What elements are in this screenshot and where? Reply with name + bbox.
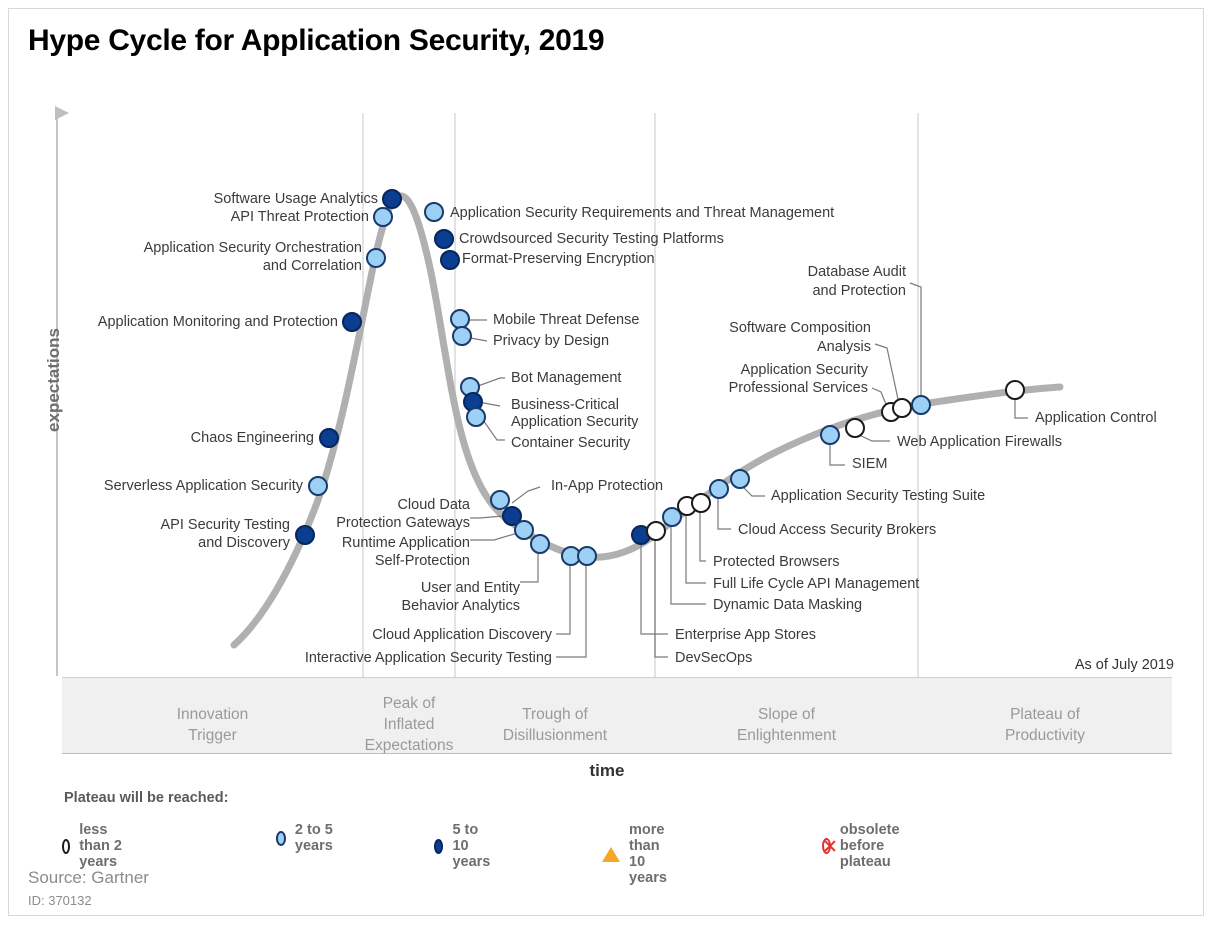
- phase-label: Trough ofDisillusionment: [503, 704, 607, 746]
- legend-heading: Plateau will be reached:: [64, 790, 228, 806]
- legend-label: 2 to 5 years: [295, 822, 338, 854]
- legend-marker-obsolete-icon: [822, 838, 831, 854]
- point-chaos-engineering: [320, 429, 338, 447]
- label-devsecops: DevSecOps: [675, 650, 752, 667]
- legend-item-more-than-10-years: more than 10 years: [602, 822, 667, 886]
- label-application-security-testing-suite: Application Security Testing Suite: [771, 488, 985, 505]
- legend-label: 5 to 10 years: [452, 822, 495, 870]
- point-application-security-requirements-and-threat-management: [425, 203, 443, 221]
- phase-label: InnovationTrigger: [177, 704, 249, 746]
- label-serverless-application-security: Serverless Application Security: [0, 478, 303, 495]
- point-format-preserving-encryption: [441, 251, 459, 269]
- label-application-security-orchestration-cont: and Correlation: [0, 258, 362, 275]
- label-full-life-cycle-api-management: Full Life Cycle API Management: [713, 576, 919, 593]
- legend-label: obsolete before plateau: [840, 822, 907, 870]
- label-user-and-entity-behavior-analytics: User and Entity: [330, 580, 520, 597]
- point-application-control: [1006, 381, 1024, 399]
- legend-item-obsolete-before-plateau: obsolete before plateau: [822, 822, 907, 870]
- point-api-threat-protection: [374, 208, 392, 226]
- legend-marker-circle-icon: [62, 839, 70, 854]
- label-siem: SIEM: [852, 456, 887, 473]
- point-application-security-testing-suite: [731, 470, 749, 488]
- phase-label: Slope ofEnlightenment: [737, 704, 836, 746]
- point-user-and-entity-behavior-analytics: [531, 535, 549, 553]
- legend-marker-circle-icon: [434, 839, 443, 854]
- label-database-audit-and-protection-cont: and Protection: [680, 283, 906, 300]
- legend-item-5-to-10-years: 5 to 10 years: [434, 822, 496, 870]
- legend-item-less-than-2-years: less than 2 years: [62, 822, 124, 870]
- label-crowdsourced-security-testing-platforms: Crowdsourced Security Testing Platforms: [459, 231, 724, 248]
- label-cloud-access-security-brokers: Cloud Access Security Brokers: [738, 522, 936, 539]
- label-runtime-application-self-protection-cont: Self-Protection: [280, 553, 470, 570]
- point-software-composition-analysis: [893, 399, 911, 417]
- label-protected-browsers: Protected Browsers: [713, 554, 840, 571]
- label-cloud-application-discovery: Cloud Application Discovery: [280, 627, 552, 644]
- point-application-monitoring-and-protection: [343, 313, 361, 331]
- label-database-audit-and-protection: Database Audit: [680, 264, 906, 281]
- hype-cycle-page: Hype Cycle for Application Security, 201…: [0, 0, 1214, 926]
- point-protected-browsers: [692, 494, 710, 512]
- label-cloud-data-protection-gateways: Cloud Data: [280, 497, 470, 514]
- label-business-critical-application-security: Business-Critical: [511, 397, 619, 414]
- label-software-usage-analytics: Software Usage Analytics: [0, 191, 378, 208]
- point-database-audit-and-protection: [912, 396, 930, 414]
- source-text: Source: Gartner: [28, 868, 149, 888]
- y-axis-label: expectations: [44, 320, 64, 440]
- point-runtime-application-self-protection: [515, 521, 533, 539]
- point-enterprise-app-stores: [647, 522, 665, 540]
- label-api-security-testing-and-discovery-cont: and Discovery: [0, 535, 290, 552]
- point-cloud-access-security-brokers: [710, 480, 728, 498]
- point-mobile-threat-defense: [451, 310, 469, 328]
- point-serverless-application-security: [309, 477, 327, 495]
- legend-marker-triangle-icon: [602, 847, 620, 862]
- point-siem: [821, 426, 839, 444]
- label-application-security-professional-services: Application Security: [600, 362, 868, 379]
- label-chaos-engineering: Chaos Engineering: [0, 430, 314, 447]
- legend-marker-circle-icon: [276, 831, 286, 846]
- label-interactive-application-security-testing: Interactive Application Security Testing: [230, 650, 552, 667]
- x-axis-label: time: [0, 761, 1214, 781]
- label-web-application-firewalls: Web Application Firewalls: [897, 434, 1062, 451]
- phase-trough-of-disillusionment: Trough ofDisillusionment: [455, 678, 655, 753]
- source-id: ID: 370132: [28, 893, 92, 908]
- label-format-preserving-encryption: Format-Preserving Encryption: [462, 251, 655, 268]
- label-api-security-testing-and-discovery: API Security Testing: [0, 517, 290, 534]
- label-business-critical-application-security-cont: Application Security: [511, 414, 638, 431]
- label-application-security-orchestration: Application Security Orchestration: [0, 240, 362, 257]
- label-user-and-entity-behavior-analytics-cont: Behavior Analytics: [330, 598, 520, 615]
- point-interactive-application-security-testing: [578, 547, 596, 565]
- phase-band: InnovationTrigger Peak ofInflatedExpecta…: [62, 677, 1172, 754]
- phase-peak-of-inflated-expectations: Peak ofInflatedExpectations: [363, 678, 455, 753]
- label-cloud-data-protection-gateways-cont: Protection Gateways: [280, 515, 470, 532]
- label-application-security-professional-services-cont: Professional Services: [600, 380, 868, 397]
- label-enterprise-app-stores: Enterprise App Stores: [675, 627, 816, 644]
- label-privacy-by-design: Privacy by Design: [493, 333, 609, 350]
- label-software-composition-analysis-cont: Analysis: [600, 339, 871, 356]
- phase-innovation-trigger: InnovationTrigger: [62, 678, 363, 753]
- label-container-security: Container Security: [511, 435, 630, 452]
- label-software-composition-analysis: Software Composition: [600, 320, 871, 337]
- point-container-security: [467, 408, 485, 426]
- phase-label: Peak ofInflatedExpectations: [365, 693, 454, 756]
- hype-cycle-plot: [0, 0, 1214, 926]
- phase-plateau-of-productivity: Plateau ofProductivity: [918, 678, 1172, 753]
- phase-label: Plateau ofProductivity: [1005, 704, 1085, 746]
- label-dynamic-data-masking: Dynamic Data Masking: [713, 597, 862, 614]
- label-application-security-requirements-and-threat-management: Application Security Requirements and Th…: [450, 205, 834, 222]
- label-in-app-protection: In-App Protection: [551, 478, 663, 495]
- point-software-usage-analytics: [383, 190, 401, 208]
- point-crowdsourced-security-testing-platforms: [435, 230, 453, 248]
- label-application-control: Application Control: [1035, 410, 1157, 427]
- legend-label: less than 2 years: [79, 822, 124, 870]
- point-web-application-firewalls: [846, 419, 864, 437]
- as-of-date: As of July 2019: [1075, 657, 1174, 673]
- phase-slope-of-enlightenment: Slope ofEnlightenment: [655, 678, 918, 753]
- label-runtime-application-self-protection: Runtime Application: [280, 535, 470, 552]
- point-application-security-orchestration-and-correlation: [367, 249, 385, 267]
- point-in-app-protection: [491, 491, 509, 509]
- point-privacy-by-design: [453, 327, 471, 345]
- label-api-threat-protection: API Threat Protection: [0, 209, 369, 226]
- legend-label: more than 10 years: [629, 822, 667, 886]
- label-application-monitoring-and-protection: Application Monitoring and Protection: [0, 314, 338, 331]
- legend-item-2-to-5-years: 2 to 5 years: [276, 822, 338, 854]
